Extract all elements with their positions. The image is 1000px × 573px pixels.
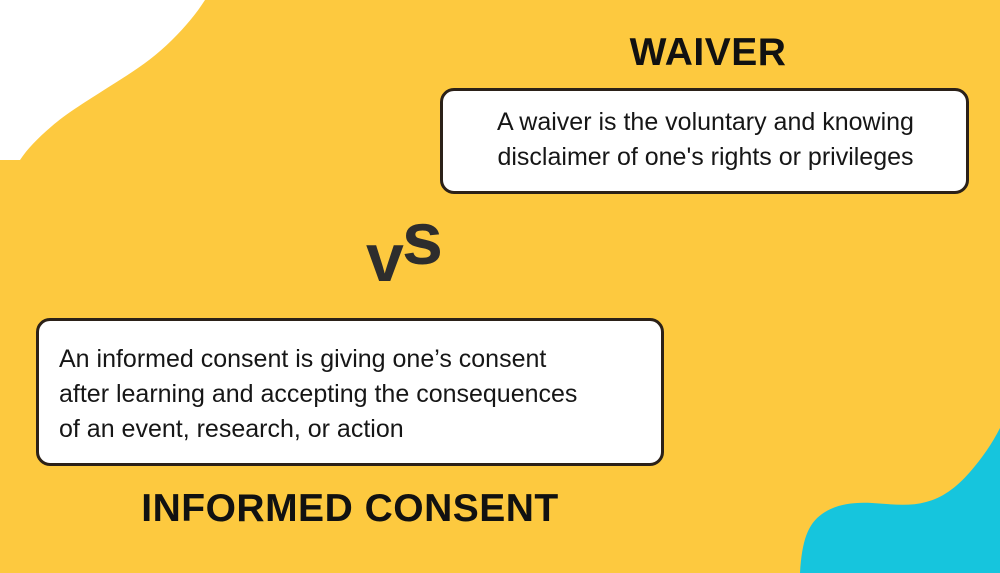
comparison-slide: WAIVER A waiver is the voluntary and kno… (0, 0, 1000, 573)
informed-consent-definition-card: An informed consent is giving one’s cons… (36, 318, 664, 466)
waiver-definition-line-2: disclaimer of one's rights or privileges (465, 140, 946, 175)
cyan-blob-shape-icon (770, 428, 1000, 573)
consent-definition-line-2: after learning and accepting the consequ… (59, 377, 643, 412)
consent-definition-line-1: An informed consent is giving one’s cons… (59, 342, 643, 377)
white-blob-shape-icon (0, 0, 230, 160)
versus-v-letter: v (366, 220, 404, 296)
waiver-definition-card: A waiver is the voluntary and knowing di… (440, 88, 969, 194)
waiver-definition-line-1: A waiver is the voluntary and knowing (465, 105, 946, 140)
waiver-title: WAIVER (208, 33, 1000, 72)
consent-definition-line-3: of an event, research, or action (59, 412, 643, 447)
informed-consent-title: INFORMED CONSENT (0, 489, 700, 528)
versus-label: vs (366, 219, 445, 293)
versus-s-letter: s (402, 197, 443, 280)
